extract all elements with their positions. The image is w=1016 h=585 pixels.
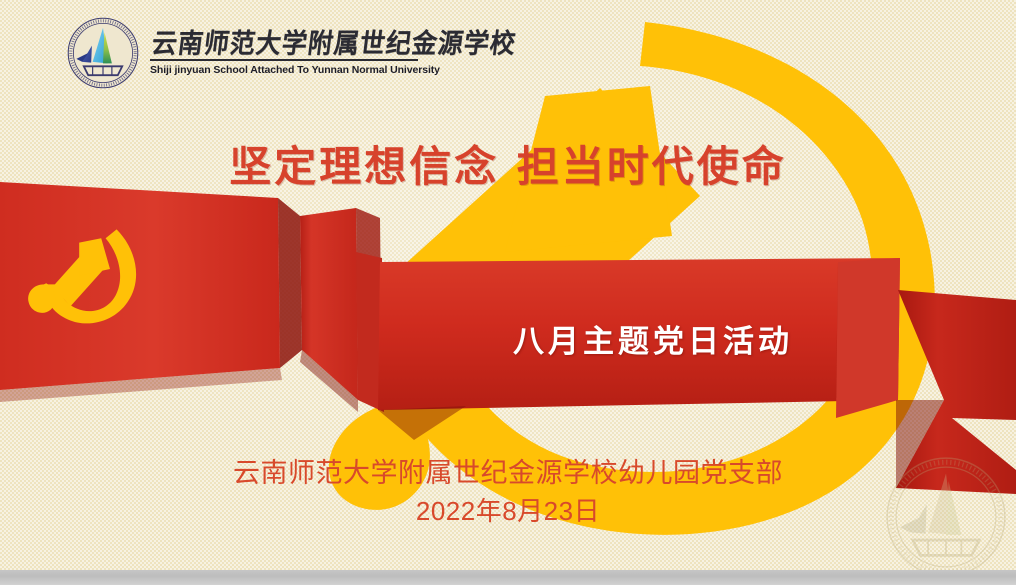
organization-name: 云南师范大学附属世纪金源学校幼儿园党支部 (0, 458, 1016, 489)
banner-title: 八月主题党日活动 (488, 316, 818, 361)
bottom-grey-strip (0, 570, 1016, 585)
event-date: 2022年8月23日 (0, 491, 1016, 528)
footer-block: 云南师范大学附属世纪金源学校幼儿园党支部 2022年8月23日 (0, 458, 1016, 528)
poster-canvas: 云南师范大学附属世纪金源学校 Shiji jinyuan School Atta… (0, 0, 1016, 585)
hammer-and-sickle-icon (22, 214, 154, 346)
